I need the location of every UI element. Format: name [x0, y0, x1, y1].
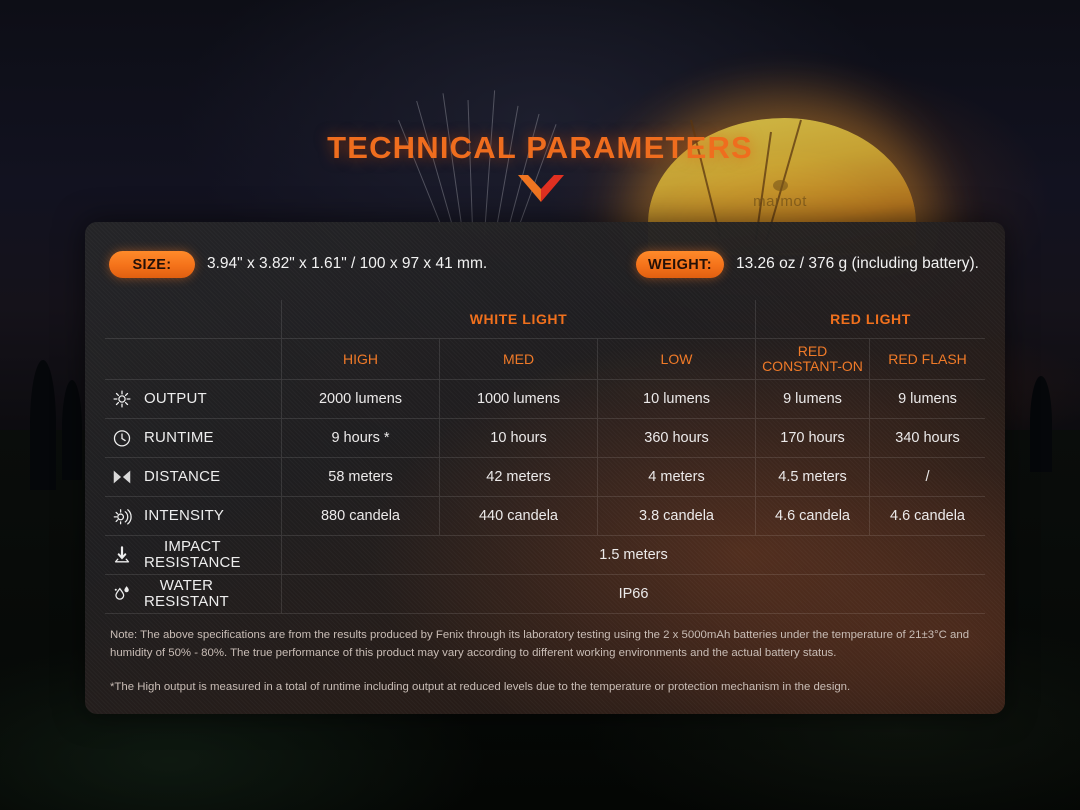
marmot-glyph: [773, 180, 788, 191]
cell-output-red-constant: 9 lumens: [755, 380, 869, 418]
size-badge: SIZE:: [109, 251, 195, 278]
cell-impact-resistance-value: 1.5 meters: [281, 536, 985, 574]
cell-runtime-high: 9 hours *: [281, 419, 439, 457]
cell-runtime-red-constant: 170 hours: [755, 419, 869, 457]
specs-footnote: *The High output is measured in a total …: [110, 681, 980, 693]
size-value: 3.94" x 3.82" x 1.61" / 100 x 97 x 41 mm…: [207, 255, 487, 273]
row-label-runtime: RUNTIME: [105, 419, 281, 457]
table-row: IMPACT RESISTANCE 1.5 meters: [105, 535, 985, 574]
table-row: INTENSITY 880 candela 440 candela 3.8 ca…: [105, 496, 985, 535]
cell-intensity-low: 3.8 candela: [597, 497, 755, 535]
water-icon: [109, 581, 135, 607]
page-title: TECHNICAL PARAMETERS: [0, 130, 1080, 166]
group-header-red-light: RED LIGHT: [755, 300, 985, 338]
row-label-intensity: INTENSITY: [105, 497, 281, 535]
cell-output-red-flash: 9 lumens: [869, 380, 985, 418]
sun-icon: [109, 386, 135, 412]
water-label-line2: RESISTANT: [144, 594, 229, 610]
spec-table: WHITE LIGHT RED LIGHT HIGH MED LOW RED C…: [105, 300, 985, 614]
tent-brand-logo: marmot: [735, 180, 825, 214]
tent-brand-label: marmot: [753, 193, 807, 210]
row-label-output: OUTPUT: [105, 380, 281, 418]
cell-distance-red-flash: /: [869, 458, 985, 496]
row-label-text: RUNTIME: [144, 430, 214, 446]
group-header-spacer: [105, 300, 281, 338]
row-label-text: OUTPUT: [144, 391, 207, 407]
impact-icon: [109, 542, 135, 568]
cell-runtime-med: 10 hours: [439, 419, 597, 457]
table-row: DISTANCE 58 meters 42 meters 4 meters 4.…: [105, 457, 985, 496]
row-label-impact-resistance: IMPACT RESISTANCE: [105, 536, 281, 574]
cell-output-high: 2000 lumens: [281, 380, 439, 418]
column-header-med: MED: [439, 339, 597, 379]
cell-distance-red-constant: 4.5 meters: [755, 458, 869, 496]
cell-output-med: 1000 lumens: [439, 380, 597, 418]
row-label-text: INTENSITY: [144, 508, 224, 524]
cell-distance-low: 4 meters: [597, 458, 755, 496]
impact-label-line1: IMPACT: [144, 539, 241, 555]
specs-note: Note: The above specifications are from …: [110, 627, 980, 662]
table-row: WATER RESISTANT IP66: [105, 574, 985, 613]
impact-label-line2: RESISTANCE: [144, 555, 241, 571]
cell-output-low: 10 lumens: [597, 380, 755, 418]
cell-intensity-med: 440 candela: [439, 497, 597, 535]
clock-icon: [109, 425, 135, 451]
table-group-header-row: WHITE LIGHT RED LIGHT: [105, 300, 985, 338]
chevron-down-icon: [518, 172, 564, 206]
screenshot-root: marmot TECHNICAL PARAMETERS SIZE: 3.94" …: [0, 0, 1080, 810]
table-row: OUTPUT 2000 lumens 1000 lumens 10 lumens…: [105, 379, 985, 418]
cell-runtime-low: 360 hours: [597, 419, 755, 457]
cell-intensity-red-flash: 4.6 candela: [869, 497, 985, 535]
weight-value: 13.26 oz / 376 g (including battery).: [736, 255, 979, 273]
row-label-water-resistant: WATER RESISTANT: [105, 575, 281, 613]
intensity-icon: [109, 503, 135, 529]
table-column-header-row: HIGH MED LOW RED CONSTANT-ON RED FLASH: [105, 338, 985, 379]
column-header-high: HIGH: [281, 339, 439, 379]
size-weight-strip: SIZE: 3.94" x 3.82" x 1.61" / 100 x 97 x…: [85, 222, 1005, 300]
red-constant-on-line1: RED: [762, 344, 863, 359]
cell-distance-high: 58 meters: [281, 458, 439, 496]
table-bottom-border: [105, 613, 985, 614]
water-label-line1: WATER: [144, 578, 229, 594]
weight-badge: WEIGHT:: [636, 251, 724, 278]
group-header-white-light: WHITE LIGHT: [281, 300, 755, 338]
column-header-red-flash: RED FLASH: [869, 339, 985, 379]
column-header-red-constant-on: RED CONSTANT-ON: [755, 339, 869, 379]
row-label-text: DISTANCE: [144, 469, 220, 485]
cell-water-resistant-value: IP66: [281, 575, 985, 613]
row-label-text: IMPACT RESISTANCE: [144, 539, 241, 571]
cell-intensity-high: 880 candela: [281, 497, 439, 535]
cell-distance-med: 42 meters: [439, 458, 597, 496]
column-header-spacer: [105, 339, 281, 379]
red-constant-on-line2: CONSTANT-ON: [762, 359, 863, 374]
cell-runtime-red-flash: 340 hours: [869, 419, 985, 457]
cell-intensity-red-constant: 4.6 candela: [755, 497, 869, 535]
row-label-text: WATER RESISTANT: [144, 578, 229, 610]
row-label-distance: DISTANCE: [105, 458, 281, 496]
table-row: RUNTIME 9 hours * 10 hours 360 hours 170…: [105, 418, 985, 457]
beam-icon: [109, 464, 135, 490]
column-header-low: LOW: [597, 339, 755, 379]
